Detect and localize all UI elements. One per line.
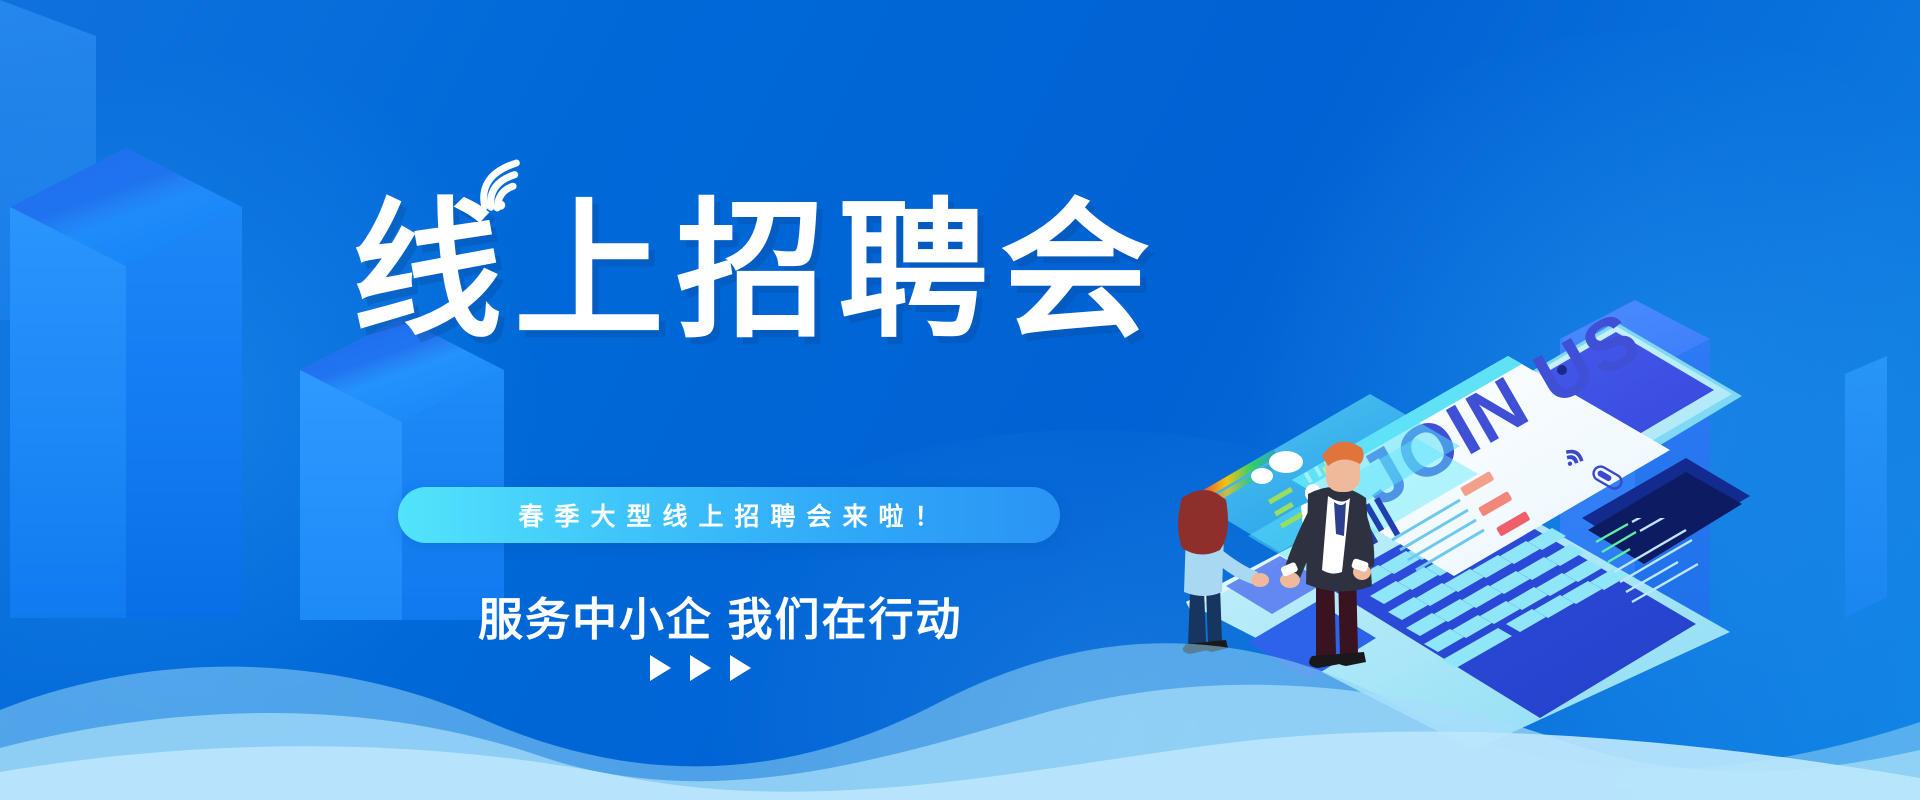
subtitle-pill: 春季大型线上招聘会来啦！	[398, 487, 1060, 543]
building-left-face	[10, 207, 126, 618]
page-title: 线上招聘会	[352, 196, 1162, 346]
recruitment-banner: JOIN US	[0, 0, 1920, 800]
subtitle-text: 春季大型线上招聘会来啦！	[507, 497, 950, 533]
building-front-left	[10, 148, 242, 618]
wave-decoration	[0, 610, 1920, 800]
building-center-left	[300, 318, 504, 620]
title-block: 线上招聘会	[352, 196, 1162, 346]
building-right-face	[126, 207, 242, 618]
building-sliver-right	[1845, 356, 1887, 618]
